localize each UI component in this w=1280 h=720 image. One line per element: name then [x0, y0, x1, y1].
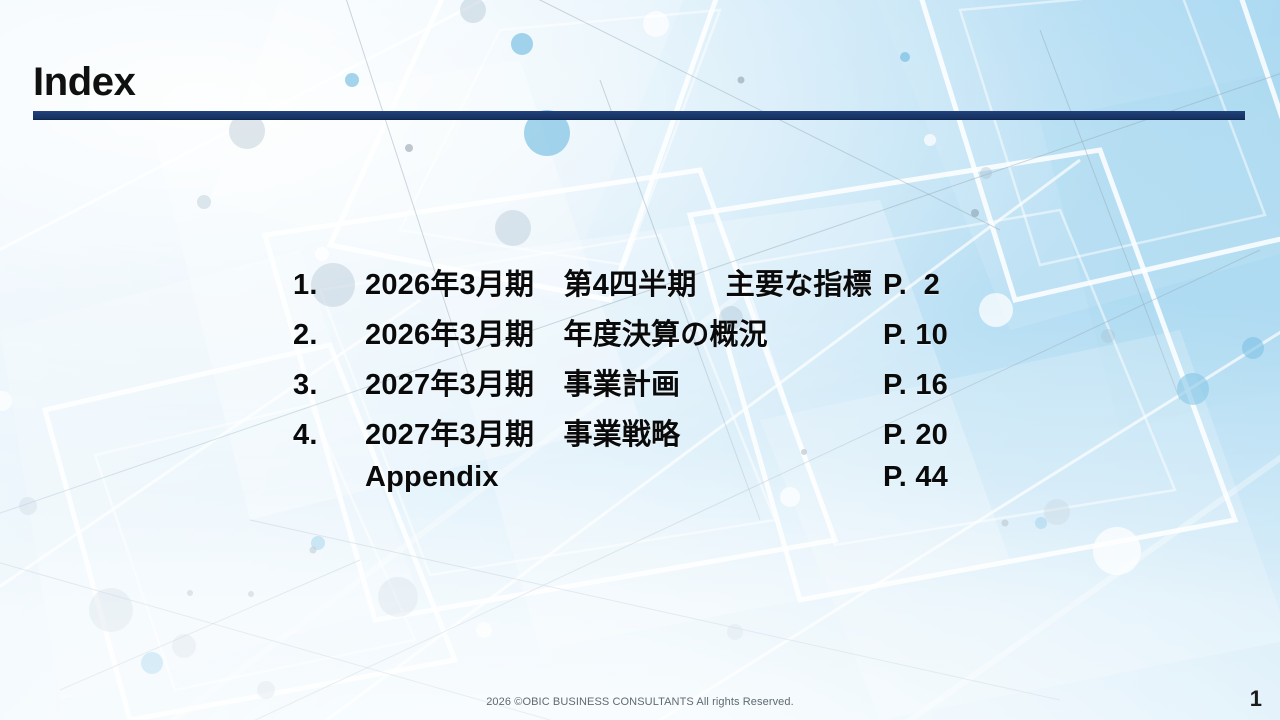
title-underline-rule	[33, 111, 1245, 120]
list-item-label: 2027年3月期 事業戦略	[365, 411, 875, 453]
page-number: 1	[1250, 686, 1262, 712]
list-item[interactable]: Appendix P. 44	[293, 461, 993, 511]
slide-canvas: Index 1. 2026年3月期 第4四半期 主要な指標 P. 2 2. 20…	[0, 0, 1280, 720]
list-item[interactable]: 2. 2026年3月期 年度決算の概況 P. 10	[293, 311, 993, 361]
list-item-page: P. 16	[883, 369, 993, 402]
list-item[interactable]: 4. 2027年3月期 事業戦略 P. 20	[293, 411, 993, 461]
list-item[interactable]: 1. 2026年3月期 第4四半期 主要な指標 P. 2	[293, 261, 993, 311]
list-item-label: 2026年3月期 第4四半期 主要な指標	[365, 261, 875, 303]
list-item-page: P. 44	[883, 461, 993, 494]
list-item[interactable]: 3. 2027年3月期 事業計画 P. 16	[293, 361, 993, 411]
list-item-number: 3.	[293, 369, 365, 402]
list-item-label: Appendix	[365, 461, 875, 494]
list-item-number: 4.	[293, 419, 365, 452]
list-item-label: 2026年3月期 年度決算の概況	[365, 311, 875, 353]
page-title: Index	[33, 62, 1245, 102]
list-item-page: P. 2	[883, 269, 993, 302]
list-item-page: P. 10	[883, 319, 993, 352]
index-list: 1. 2026年3月期 第4四半期 主要な指標 P. 2 2. 2026年3月期…	[293, 261, 993, 511]
footer-copyright: 2026 ©OBIC BUSINESS CONSULTANTS All righ…	[0, 696, 1280, 708]
list-item-number: 2.	[293, 319, 365, 352]
list-item-page: P. 20	[883, 419, 993, 452]
list-item-label: 2027年3月期 事業計画	[365, 361, 875, 403]
list-item-number: 1.	[293, 269, 365, 302]
title-block: Index	[33, 62, 1245, 120]
